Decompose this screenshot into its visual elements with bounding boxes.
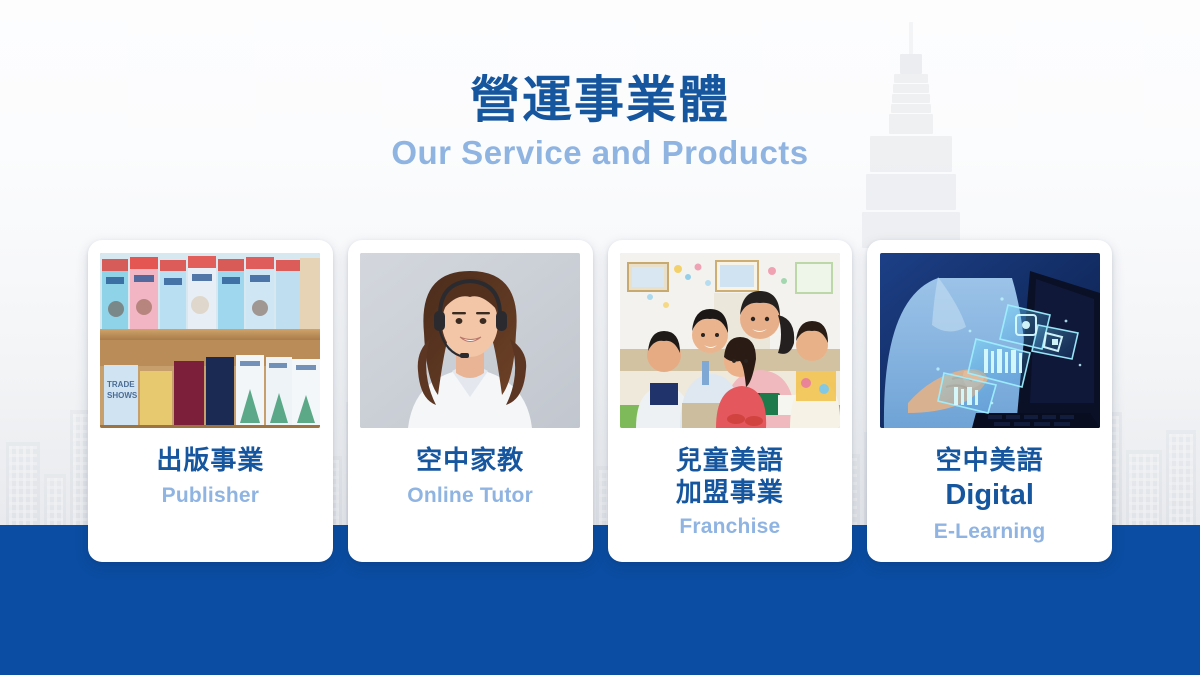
- card-labels: 空中美語 Digital E-Learning: [880, 445, 1099, 544]
- card-title-en: Publisher: [101, 483, 320, 508]
- bookshelf-magazines-photo: TRADE SHOWS: [100, 253, 320, 428]
- card-subtitle-en: E-Learning: [880, 519, 1099, 544]
- card-labels: 出版事業 Publisher: [101, 445, 320, 508]
- service-card-publisher[interactable]: TRADE SHOWS 出版事業 Publisher: [88, 240, 333, 562]
- card-title-en: Digital: [880, 478, 1099, 513]
- teacher-with-children-classroom-photo: [620, 253, 840, 428]
- title-english: Our Service and Products: [0, 134, 1200, 172]
- title-chinese: 營運事業體: [0, 72, 1200, 128]
- laptop-digital-hologram-photo: [880, 253, 1100, 428]
- svg-text:SHOWS: SHOWS: [107, 391, 138, 400]
- service-card-digital[interactable]: 空中美語 Digital E-Learning: [867, 240, 1112, 562]
- card-labels: 兒童美語 加盟事業 Franchise: [621, 445, 840, 540]
- svg-text:TRADE: TRADE: [107, 380, 135, 389]
- card-title-zh: 空中家教: [361, 445, 580, 477]
- card-title-en: Online Tutor: [361, 483, 580, 508]
- service-cards-row: TRADE SHOWS 出版事業 Publisher: [88, 240, 1112, 562]
- card-title-zh: 空中美語: [880, 445, 1099, 477]
- headset-tutor-woman-photo: [360, 253, 580, 428]
- page-title: 營運事業體 Our Service and Products: [0, 72, 1200, 172]
- card-labels: 空中家教 Online Tutor: [361, 445, 580, 508]
- card-title-zh: 兒童美語 加盟事業: [621, 445, 840, 508]
- card-title-zh: 出版事業: [101, 445, 320, 477]
- card-title-en: Franchise: [621, 514, 840, 539]
- service-card-online-tutor[interactable]: 空中家教 Online Tutor: [348, 240, 593, 562]
- slide-stage: 營運事業體 Our Service and Products: [0, 0, 1200, 675]
- service-card-franchise[interactable]: 兒童美語 加盟事業 Franchise: [608, 240, 853, 562]
